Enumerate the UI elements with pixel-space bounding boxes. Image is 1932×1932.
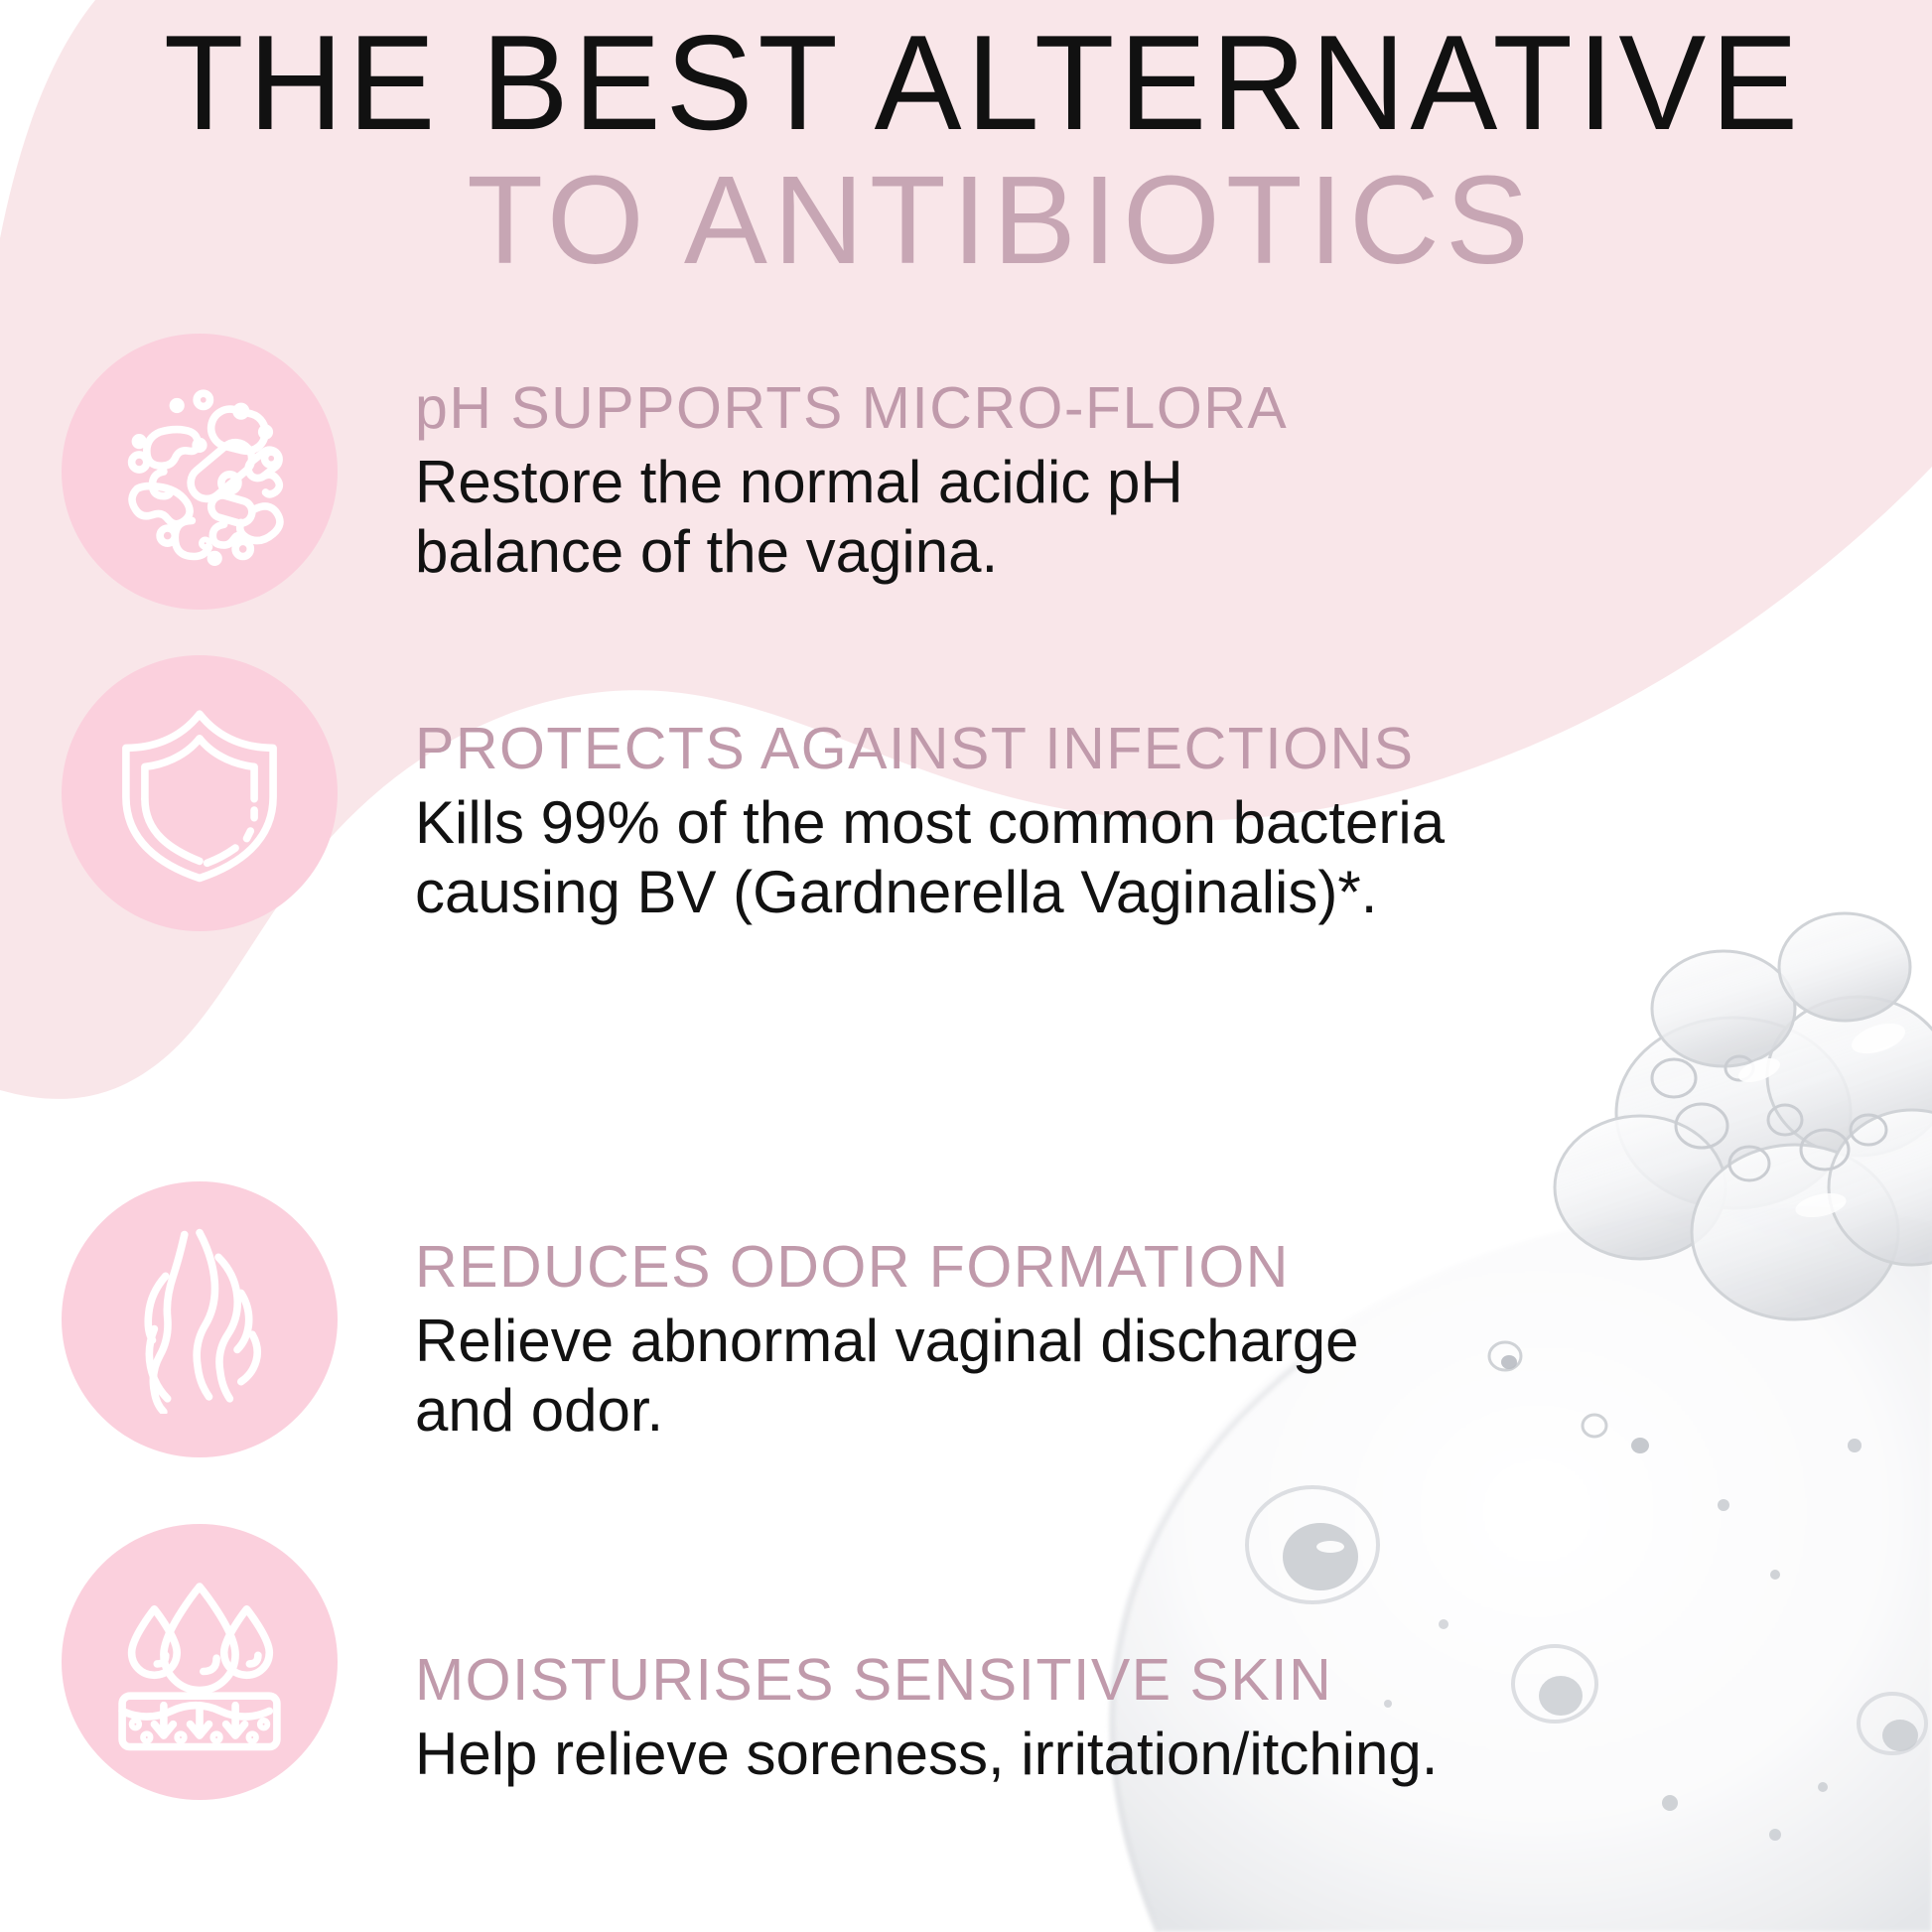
feature-body: Restore the normal acidic pH balance of … [415,448,1487,586]
headline-line-1: THE BEST ALTERNATIVE [29,14,1903,152]
icon-circle [62,1524,338,1800]
feature-text: MOISTURISES SENSITIVE SKIN Help relieve … [415,1651,1872,1789]
feature-text: REDUCES ODOR FORMATION Relieve abnormal … [415,1238,1872,1445]
feature-text: PROTECTS AGAINST INFECTIONS Kills 99% of… [415,720,1872,926]
icon-circle [62,334,338,610]
odor-waves-icon [105,1225,294,1414]
feature-body: Kills 99% of the most common bacteria ca… [415,788,1487,926]
feature-text: pH SUPPORTS MICRO-FLORA Restore the norm… [415,379,1872,586]
feature-item-ph-supports-micro-flora: pH SUPPORTS MICRO-FLORA Restore the norm… [62,328,1872,610]
feature-body-line-2: and odor. [415,1376,1487,1446]
feature-body-line-1: Restore the normal acidic pH [415,448,1487,517]
feature-title: PROTECTS AGAINST INFECTIONS [415,720,1872,778]
infographic-root: THE BEST ALTERNATIVE TO ANTIBIOTICS [0,0,1932,1932]
moisture-droplets-skin-icon [105,1568,294,1756]
feature-body-line-1: Help relieve soreness, irritation/itchin… [415,1720,1487,1789]
feature-item-protects-against-infections: PROTECTS AGAINST INFECTIONS Kills 99% of… [62,655,1872,931]
feature-title: REDUCES ODOR FORMATION [415,1238,1872,1297]
feature-body-line-1: Relieve abnormal vaginal discharge [415,1307,1487,1376]
icon-circle [62,1181,338,1457]
feature-body: Help relieve soreness, irritation/itchin… [415,1720,1487,1789]
bacteria-icon [105,377,294,566]
feature-title: pH SUPPORTS MICRO-FLORA [415,379,1872,438]
feature-title: MOISTURISES SENSITIVE SKIN [415,1651,1872,1710]
headline: THE BEST ALTERNATIVE TO ANTIBIOTICS [0,14,1932,289]
feature-body-line-2: causing BV (Gardnerella Vaginalis)*. [415,858,1487,927]
shield-icon [105,699,294,888]
feature-body-line-1: Kills 99% of the most common bacteria [415,788,1487,858]
feature-item-reduces-odor-formation: REDUCES ODOR FORMATION Relieve abnormal … [62,1181,1872,1457]
feature-body: Relieve abnormal vaginal discharge and o… [415,1307,1487,1445]
icon-circle [62,655,338,931]
headline-line-2: TO ANTIBIOTICS [0,152,1932,290]
feature-body-line-2: balance of the vagina. [415,517,1487,587]
feature-item-moisturises-sensitive-skin: MOISTURISES SENSITIVE SKIN Help relieve … [62,1524,1872,1800]
